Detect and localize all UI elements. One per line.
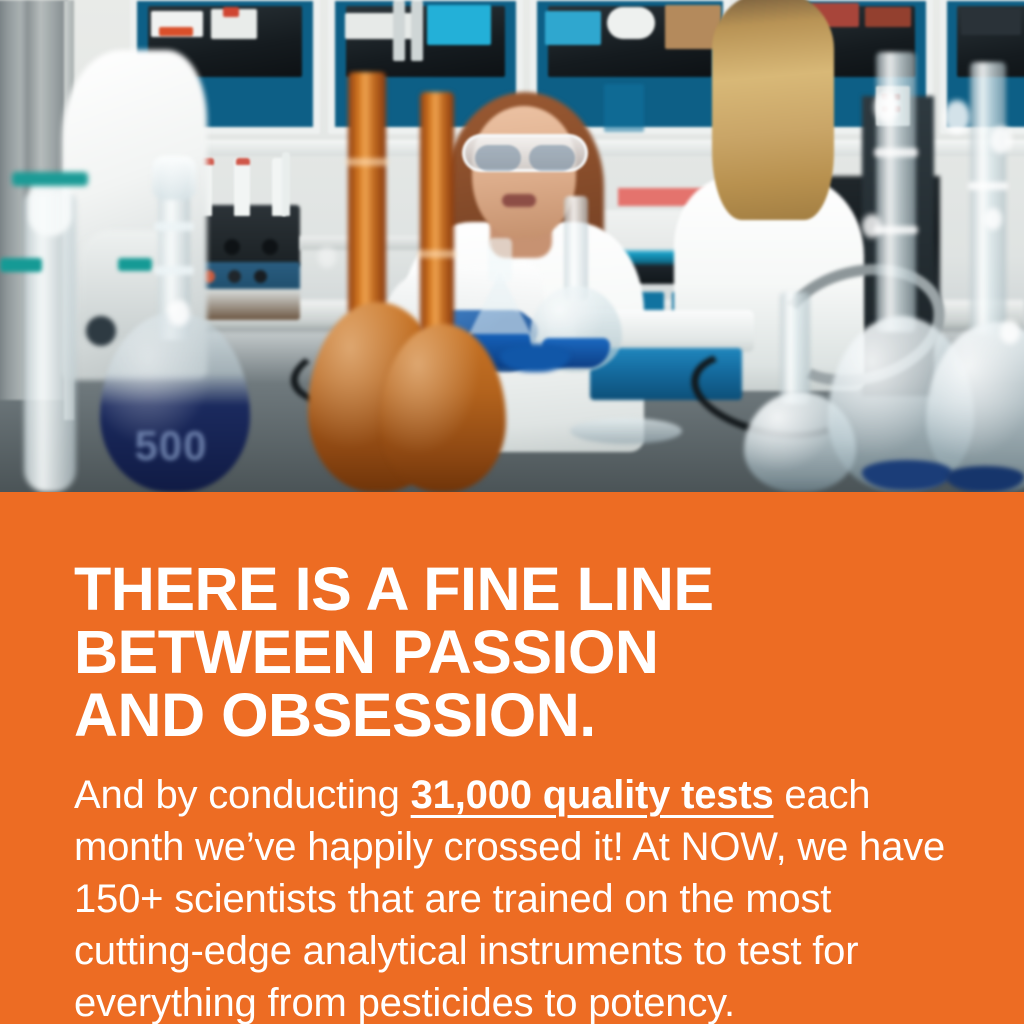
bottle-head xyxy=(28,178,72,236)
flask-graduation-ring xyxy=(418,250,456,258)
flask-neck xyxy=(420,92,454,334)
bokeh-highlight xyxy=(874,92,898,122)
flask-liquid xyxy=(946,466,1024,492)
flask-stopper xyxy=(152,156,196,200)
cabinet-contents xyxy=(345,13,419,39)
cabinet-contents xyxy=(411,1,423,61)
cabinet-contents xyxy=(427,5,491,45)
flask-bulb xyxy=(380,324,506,492)
cabinet-contents xyxy=(393,1,405,61)
lab-photo: 500 xyxy=(0,0,1024,492)
flask-neck xyxy=(970,62,1006,334)
bokeh-highlight xyxy=(990,126,1012,154)
petri-dish xyxy=(570,418,682,444)
flask-neck xyxy=(564,196,588,300)
bokeh-highlight xyxy=(862,214,882,238)
flask-liquid xyxy=(500,344,570,372)
cabinet-contents xyxy=(223,7,239,17)
stand-rod xyxy=(282,152,290,216)
bokeh-highlight xyxy=(318,246,336,268)
foreground-bottle-teal-cap xyxy=(6,162,92,492)
flask-liquid xyxy=(862,460,952,490)
promo-poster: 500 xyxy=(0,0,1024,1024)
flask-neck xyxy=(780,292,810,404)
teal-cap-accent xyxy=(0,258,42,272)
flask-graduation-ring xyxy=(154,222,194,231)
cabinet-contents xyxy=(159,27,193,36)
cabinet-contents xyxy=(607,7,655,39)
bokeh-highlight xyxy=(944,100,970,134)
volumetric-flask-clear-2 xyxy=(926,62,1024,492)
flask-volume-label: 500 xyxy=(116,422,226,470)
flask-graduation-ring xyxy=(874,148,918,157)
volumetric-flask-500ml: 500 xyxy=(86,162,266,492)
cabinet-contents xyxy=(545,11,601,45)
bokeh-highlight xyxy=(984,208,1002,230)
cabinet-contents xyxy=(865,7,911,27)
cabinet-contents xyxy=(961,9,1021,35)
volumetric-flask-amber-2 xyxy=(378,92,508,492)
bokeh-highlight xyxy=(168,300,190,326)
volumetric-flask-clear-3 xyxy=(740,292,860,492)
quality-tests-highlight: 31,000 quality tests xyxy=(411,773,774,817)
page-title: THERE IS A FINE LINE BETWEEN PASSION AND… xyxy=(74,558,954,747)
bottle-cap xyxy=(12,172,88,186)
bokeh-highlight xyxy=(1000,320,1020,344)
body-copy: And by conducting 31,000 quality tests e… xyxy=(74,769,952,1024)
flask-bulb xyxy=(744,392,856,492)
scientist-hair xyxy=(712,0,834,220)
orange-text-panel: THERE IS A FINE LINE BETWEEN PASSION AND… xyxy=(0,492,1024,1024)
bottle-body xyxy=(24,192,76,492)
body-copy-lead: And by conducting xyxy=(74,773,411,817)
flask-graduation-ring xyxy=(154,266,194,275)
goggles-lens xyxy=(529,145,575,171)
flask-graduation-ring xyxy=(968,182,1008,190)
